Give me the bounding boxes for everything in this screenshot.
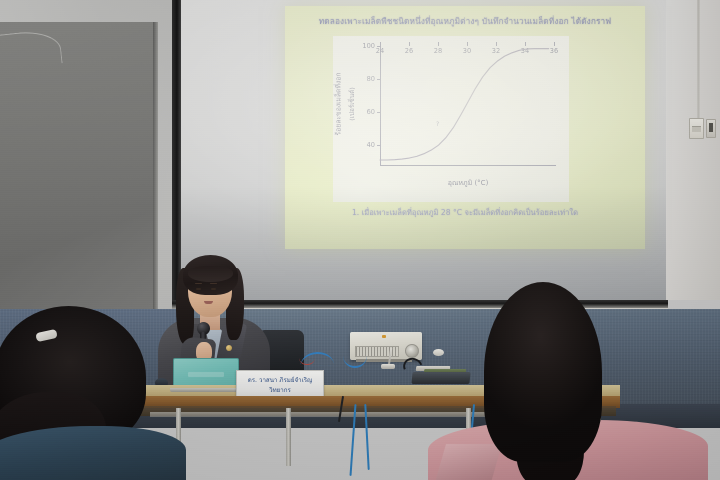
laptop-base xyxy=(170,388,242,392)
name-plate-role: วิทยากร xyxy=(237,385,323,395)
slide-title: ทดลองเพาะเมล็ดพืชชนิดหนึ่งที่อุณหภูมิต่า… xyxy=(295,16,635,26)
chart-y-tick-label: 100 xyxy=(362,42,375,50)
laptop-logo-icon xyxy=(188,372,224,377)
wall-seam xyxy=(697,0,700,120)
chart-x-axis-label: อุณหภูมิ (°C) xyxy=(380,178,556,189)
chart-y-tick-label: 60 xyxy=(367,108,375,116)
speaker-hair-bangs xyxy=(188,266,233,282)
chart-y-axis-label: ร้อยละของเมล็ดที่งอก xyxy=(333,73,344,136)
name-plate: ดร. วาสนา ภิรมย์จำเริญ วิทยากร xyxy=(236,370,324,399)
projector-power-led xyxy=(382,335,386,338)
projector-lens-icon xyxy=(405,344,419,358)
table-leg xyxy=(286,408,291,466)
dark-equipment-case xyxy=(411,372,470,384)
slide-question: 1. เมื่อเพาะเมล็ดที่อุณหภูมิ 28 °C จะมีเ… xyxy=(293,208,637,218)
speaker-eye-right xyxy=(211,288,216,290)
audience-right-head xyxy=(484,282,602,462)
light-switch-icon[interactable] xyxy=(706,119,716,138)
left-wall-panel xyxy=(0,22,155,314)
audience-right-shirt-fold xyxy=(434,444,502,480)
speaker-eye-left xyxy=(196,288,201,290)
chart-x-axis xyxy=(380,165,556,166)
right-wall xyxy=(664,0,720,300)
chart-annotation: ? xyxy=(436,121,439,128)
chart-series-line xyxy=(380,42,556,165)
left-wall-panel-edge xyxy=(153,22,158,314)
small-device xyxy=(433,349,444,356)
audience-left-shirt xyxy=(0,426,186,480)
chart-y-tick-label: 40 xyxy=(367,141,375,149)
chart-y-tick-label: 80 xyxy=(367,75,375,83)
slide-chart: 100 80 60 40 24 26 28 30 32 34 36 xyxy=(333,36,569,202)
mic-stand-base xyxy=(381,364,395,369)
screen-frame-left xyxy=(172,0,181,302)
speaker-badge-icon xyxy=(226,345,232,351)
wall-control-panel-icon[interactable] xyxy=(689,118,704,139)
projected-slide: ทดลองเพาะเมล็ดพืชชนิดหนึ่งที่อุณหภูมิต่า… xyxy=(285,6,645,249)
name-plate-name: ดร. วาสนา ภิรมย์จำเริญ xyxy=(237,375,323,385)
chart-plot-area: 100 80 60 40 24 26 28 30 32 34 36 xyxy=(380,42,556,165)
lecture-room-photo: ทดลองเพาะเมล็ดพืชชนิดหนึ่งที่อุณหภูมิต่า… xyxy=(0,0,720,480)
chart-y-axis-label-unit: (เปอร์เซ็นต์) xyxy=(347,87,357,121)
